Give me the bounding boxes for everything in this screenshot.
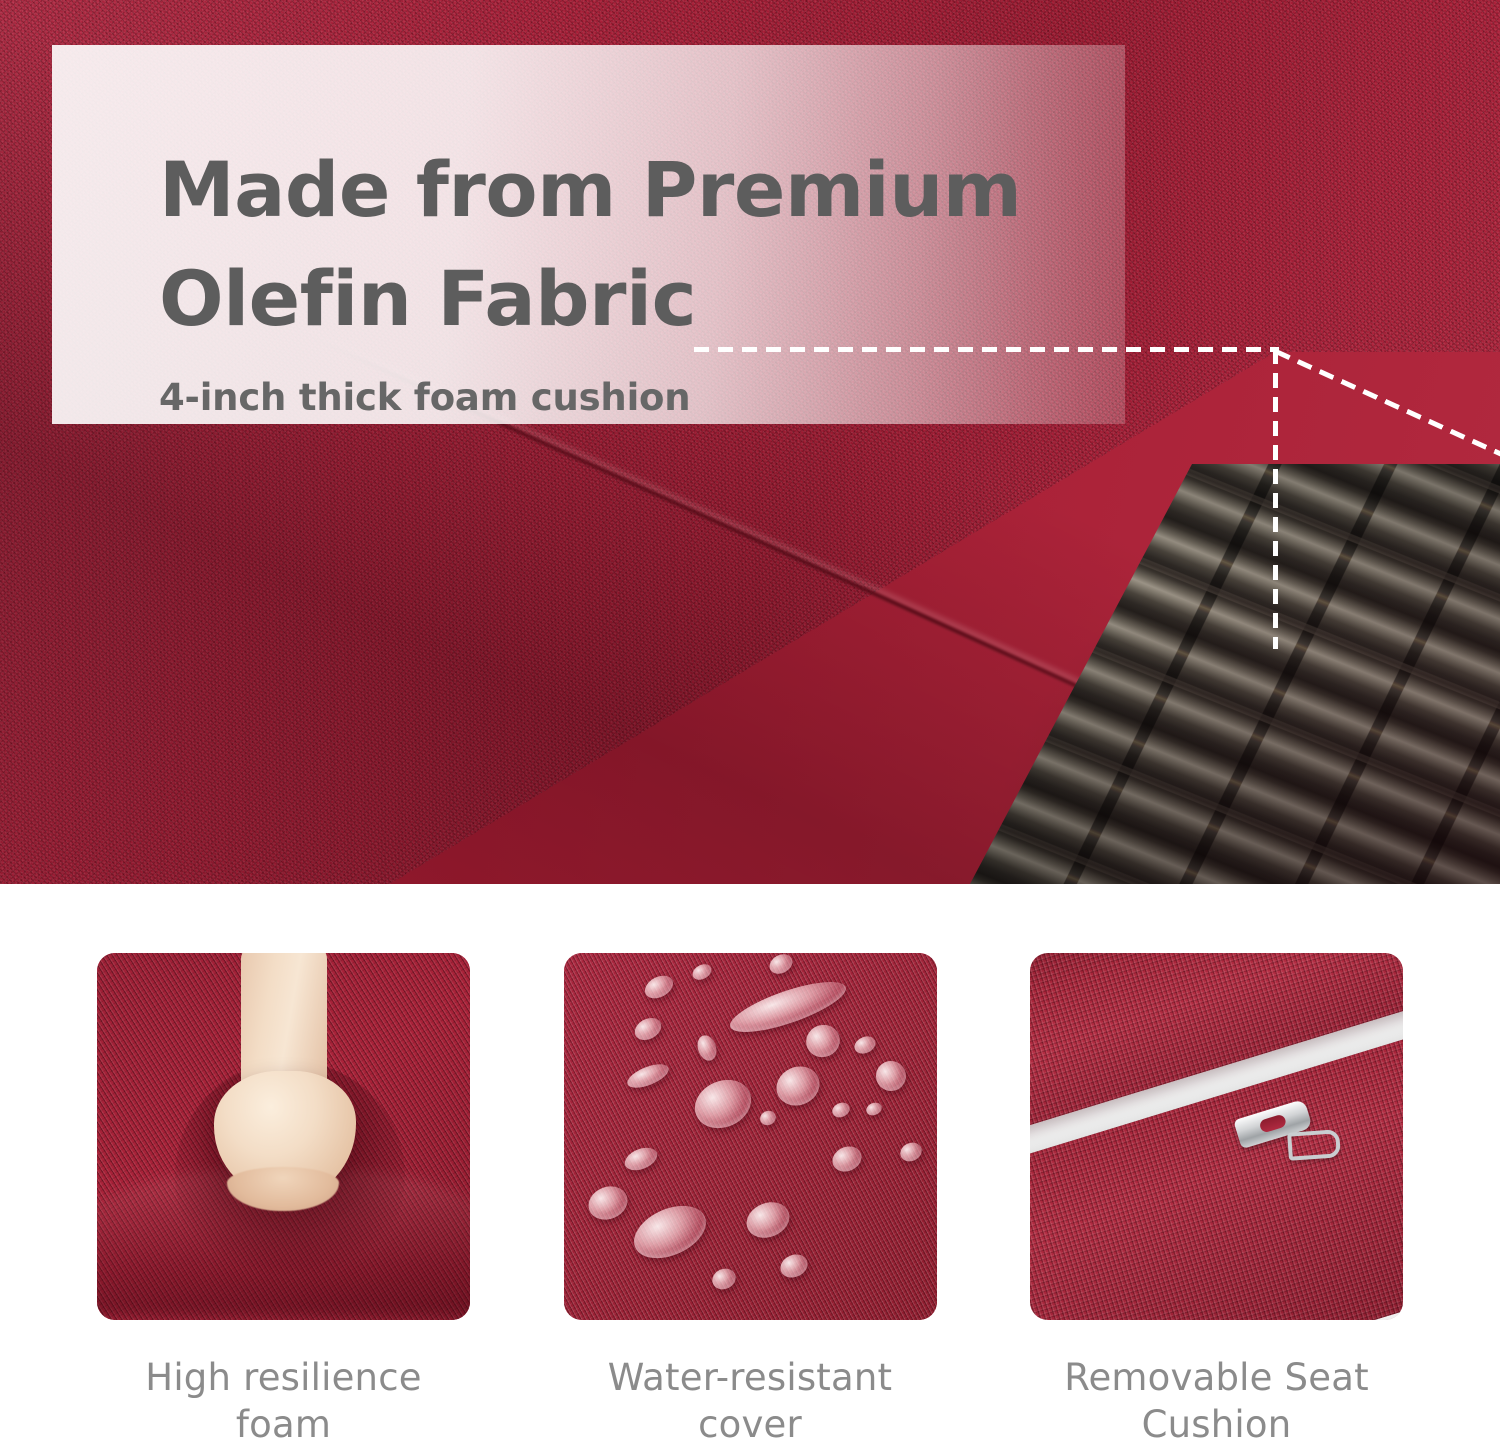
headline-line-1: Made from Premium bbox=[159, 135, 1099, 244]
subheadline: 4-inch thick foam cushion bbox=[159, 376, 1099, 419]
caption-line-1: High resilience bbox=[97, 1354, 470, 1401]
zipper-slider-aperture bbox=[1259, 1114, 1288, 1134]
headline-line-2: Olefin Fabric bbox=[159, 244, 1099, 353]
caption-line-1: Removable Seat bbox=[1030, 1354, 1403, 1401]
feature-image-removable-seat-cushion bbox=[1030, 953, 1403, 1320]
callout-dashed-line-vertical bbox=[1273, 349, 1278, 649]
feature-card-removable-seat-cushion: Removable Seat Cushion bbox=[1030, 953, 1403, 1449]
zipper-pull-tab bbox=[1287, 1129, 1341, 1161]
hero-product-image: Made from Premium Olefin Fabric 4-inch t… bbox=[0, 0, 1500, 884]
feature-caption-high-resilience-foam: High resilience foam bbox=[97, 1354, 470, 1449]
caption-line-1: Water-resistant bbox=[564, 1354, 937, 1401]
feature-strip: High resilience foam bbox=[0, 884, 1500, 1440]
feature-card-high-resilience-foam: High resilience foam bbox=[97, 953, 470, 1449]
feature-caption-water-resistant-cover: Water-resistant cover bbox=[564, 1354, 937, 1449]
feature-card-water-resistant-cover: Water-resistant cover bbox=[564, 953, 937, 1449]
feature-card-list: High resilience foam bbox=[97, 953, 1403, 1449]
feature-image-water-resistant-cover bbox=[564, 953, 937, 1320]
caption-line-2: foam bbox=[97, 1401, 470, 1448]
feature-caption-removable-seat-cushion: Removable Seat Cushion bbox=[1030, 1354, 1403, 1449]
caption-line-2: cover bbox=[564, 1401, 937, 1448]
feature-image-high-resilience-foam bbox=[97, 953, 470, 1320]
caption-line-2: Cushion bbox=[1030, 1401, 1403, 1448]
product-feature-page: Made from Premium Olefin Fabric 4-inch t… bbox=[0, 0, 1500, 1440]
headline-overlay-panel: Made from Premium Olefin Fabric 4-inch t… bbox=[52, 45, 1125, 424]
headline-text-group: Made from Premium Olefin Fabric 4-inch t… bbox=[159, 135, 1099, 419]
